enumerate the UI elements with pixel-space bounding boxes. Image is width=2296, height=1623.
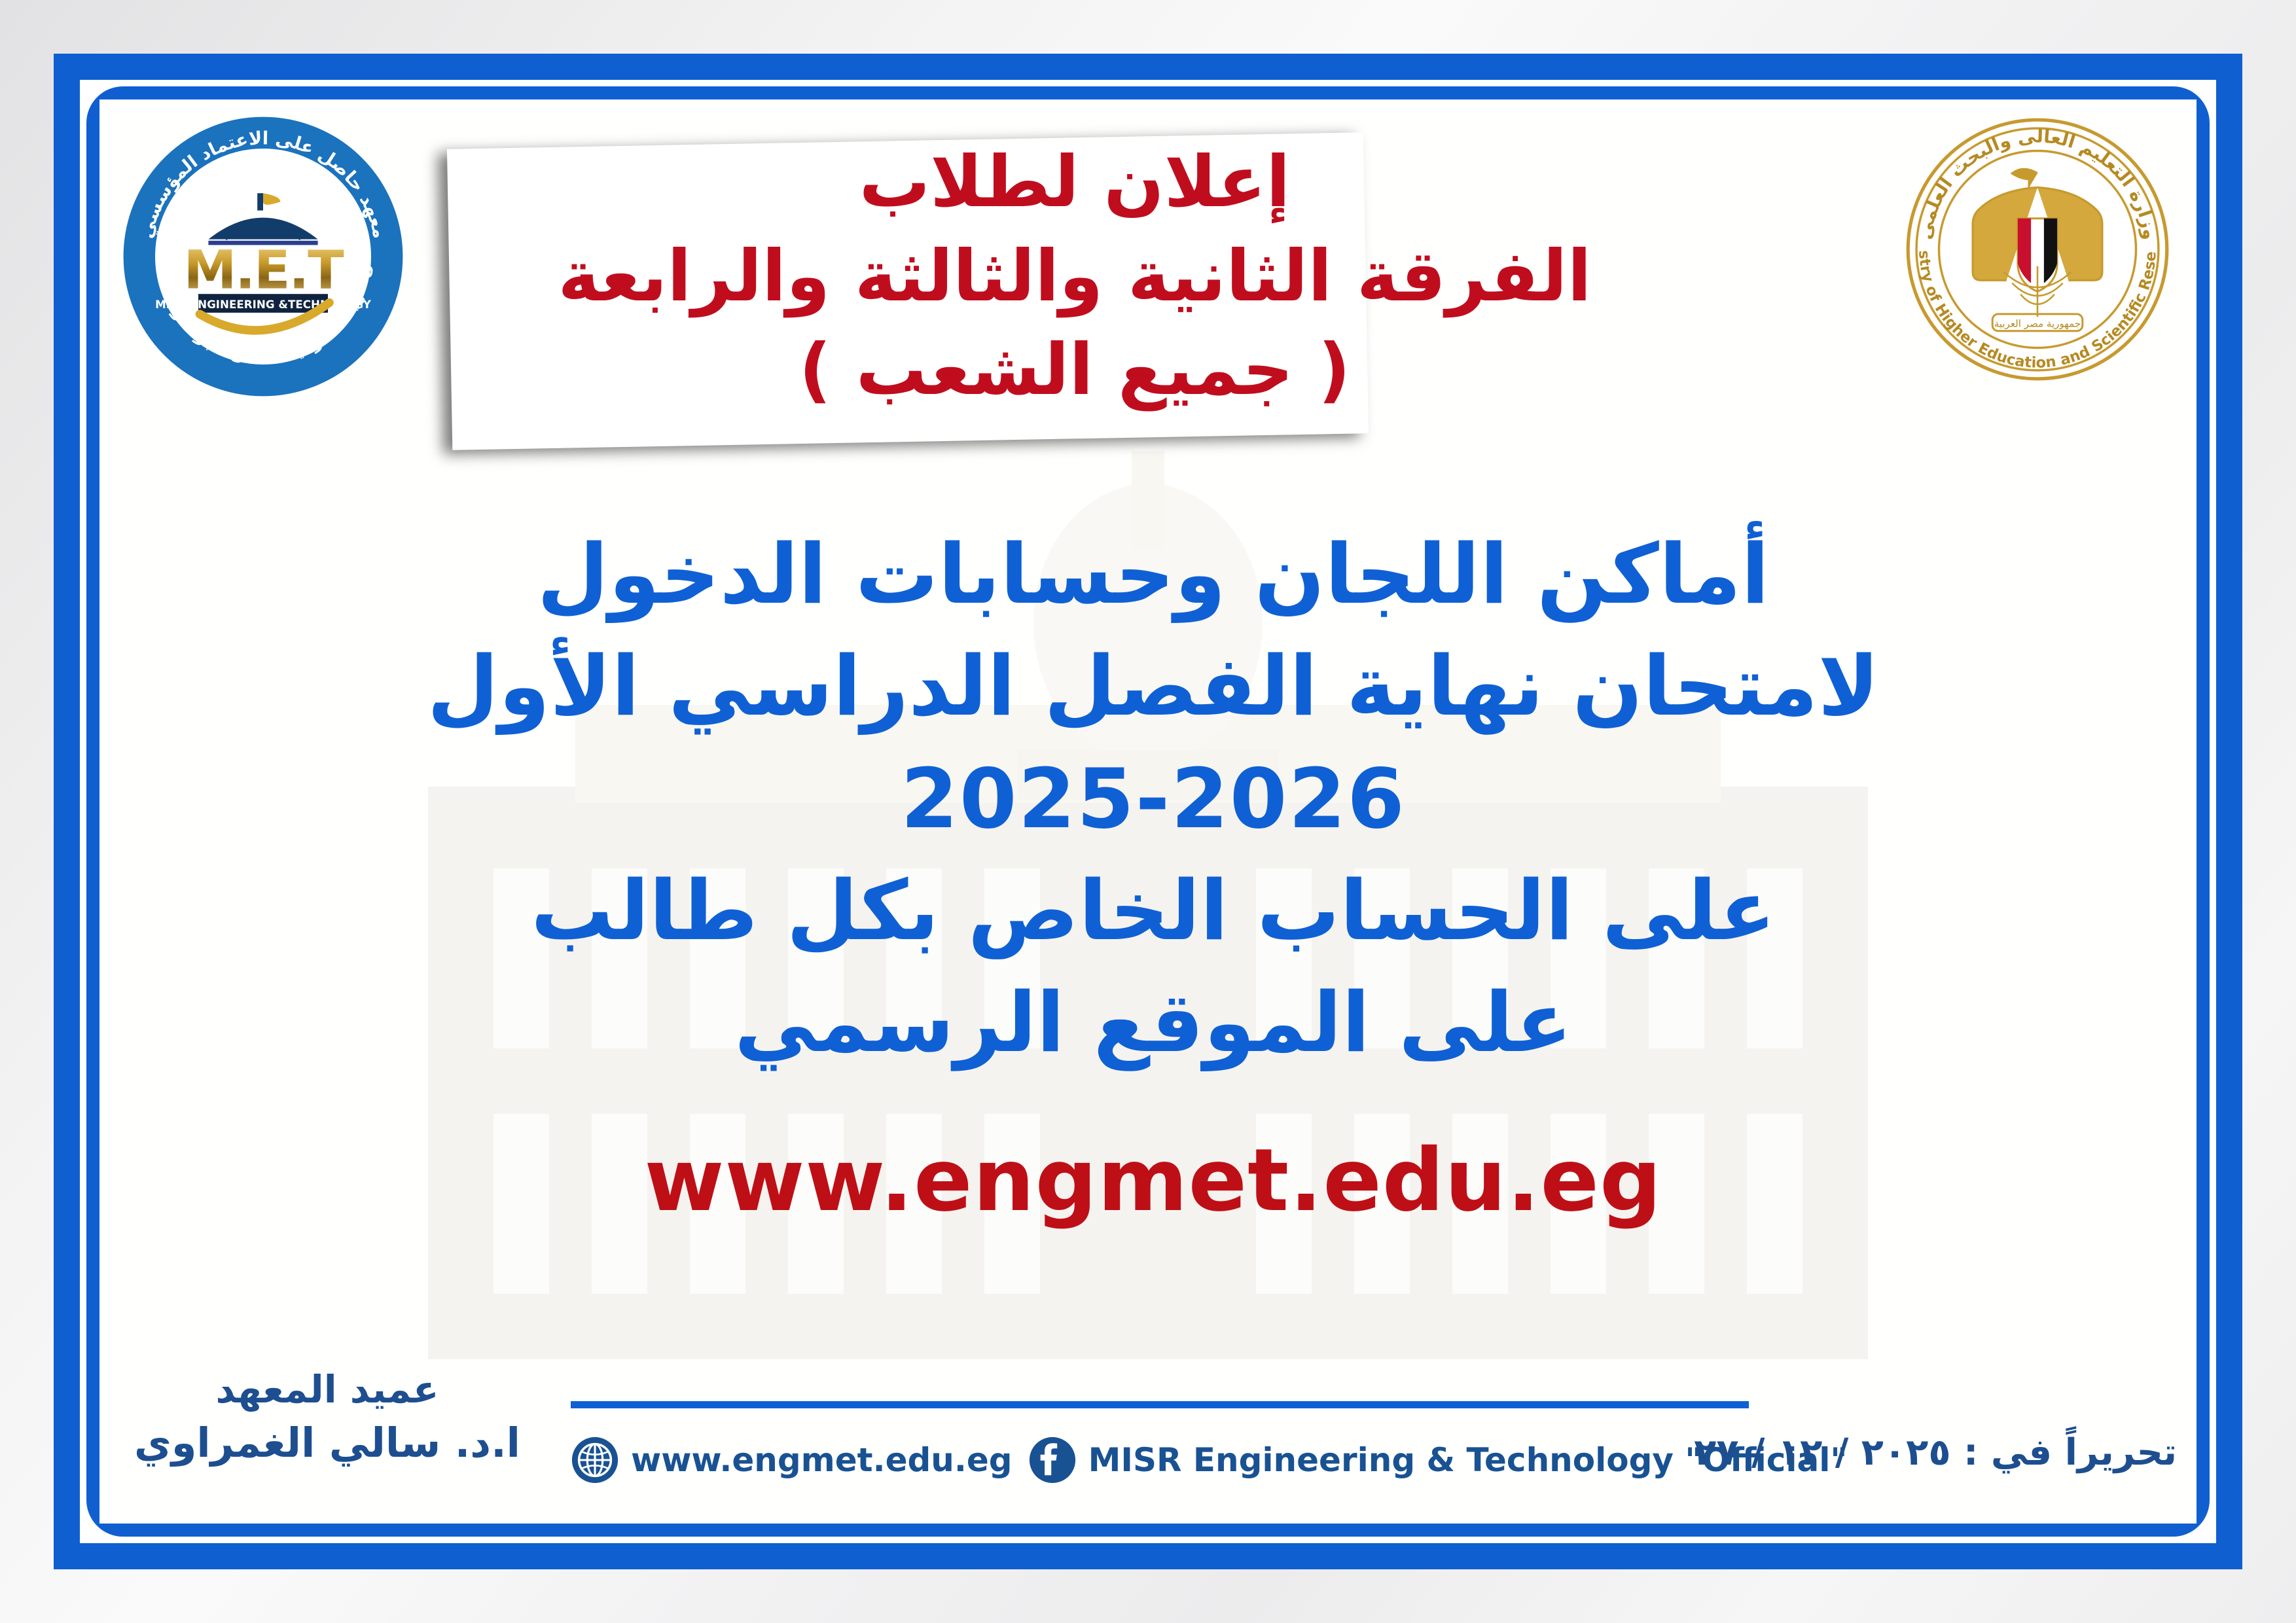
footer-contacts: www.engmet.edu.eg MISR Engineering & Tec… [569,1435,1847,1486]
poster-footer: عميد المعهد ا.د. سالي الغمراوي www.engme… [99,1344,2197,1508]
ministry-of-higher-education-seal: وزارة التعليم العالى والبحث العلمى Minis… [1897,109,2178,390]
svg-text:جمهورية مصر العربية: جمهورية مصر العربية [1994,317,2081,329]
globe-icon [569,1435,620,1486]
poster-canvas: معهد حاصل على الاعتماد المؤسسي من الهيئة… [99,99,2197,1524]
date-label: تحريراً في : [1964,1431,2177,1474]
body-line-2: لامتحان نهاية الفصل الدراسي الأول [204,630,2102,742]
dean-title: عميد المعهد [118,1365,537,1417]
academic-year: 2025-2026 [204,743,2102,855]
announcement-heading: إعلان لطلاب الفرقة الثانية والثالثة والر… [322,135,1827,418]
announcement-body: أماكن اللجان وحسابات الدخول لامتحان نهاي… [204,518,2102,1079]
body-line-4: على الحساب الخاص بكل طالب [204,855,2102,967]
issue-date: تحريراً في : ٢٠٢٥ / ١٢ / ٢٧ [1694,1431,2177,1474]
heading-line-2: الفرقة الثانية والثالثة والرابعة [322,230,1827,324]
date-value: ٢٠٢٥ / ١٢ / ٢٧ [1694,1431,1950,1474]
dean-name: ا.د. سالي الغمراوي [118,1417,537,1470]
facebook-icon [1027,1435,1078,1486]
svg-text:M.E.T: M.E.T [184,239,345,301]
website-contact[interactable]: www.engmet.edu.eg [569,1435,1013,1486]
footer-divider [571,1401,1749,1408]
heading-line-1: إعلان لطلاب [322,135,1827,230]
heading-line-3: ( جميع الشعب ) [322,323,1827,418]
body-line-5: على الموقع الرسمي [204,967,2102,1079]
dean-signature: عميد المعهد ا.د. سالي الغمراوي [118,1365,537,1470]
official-website-url[interactable]: www.engmet.edu.eg [204,1133,2102,1228]
body-line-1: أماكن اللجان وحسابات الدخول [204,518,2102,630]
website-label: www.engmet.edu.eg [631,1441,1013,1479]
